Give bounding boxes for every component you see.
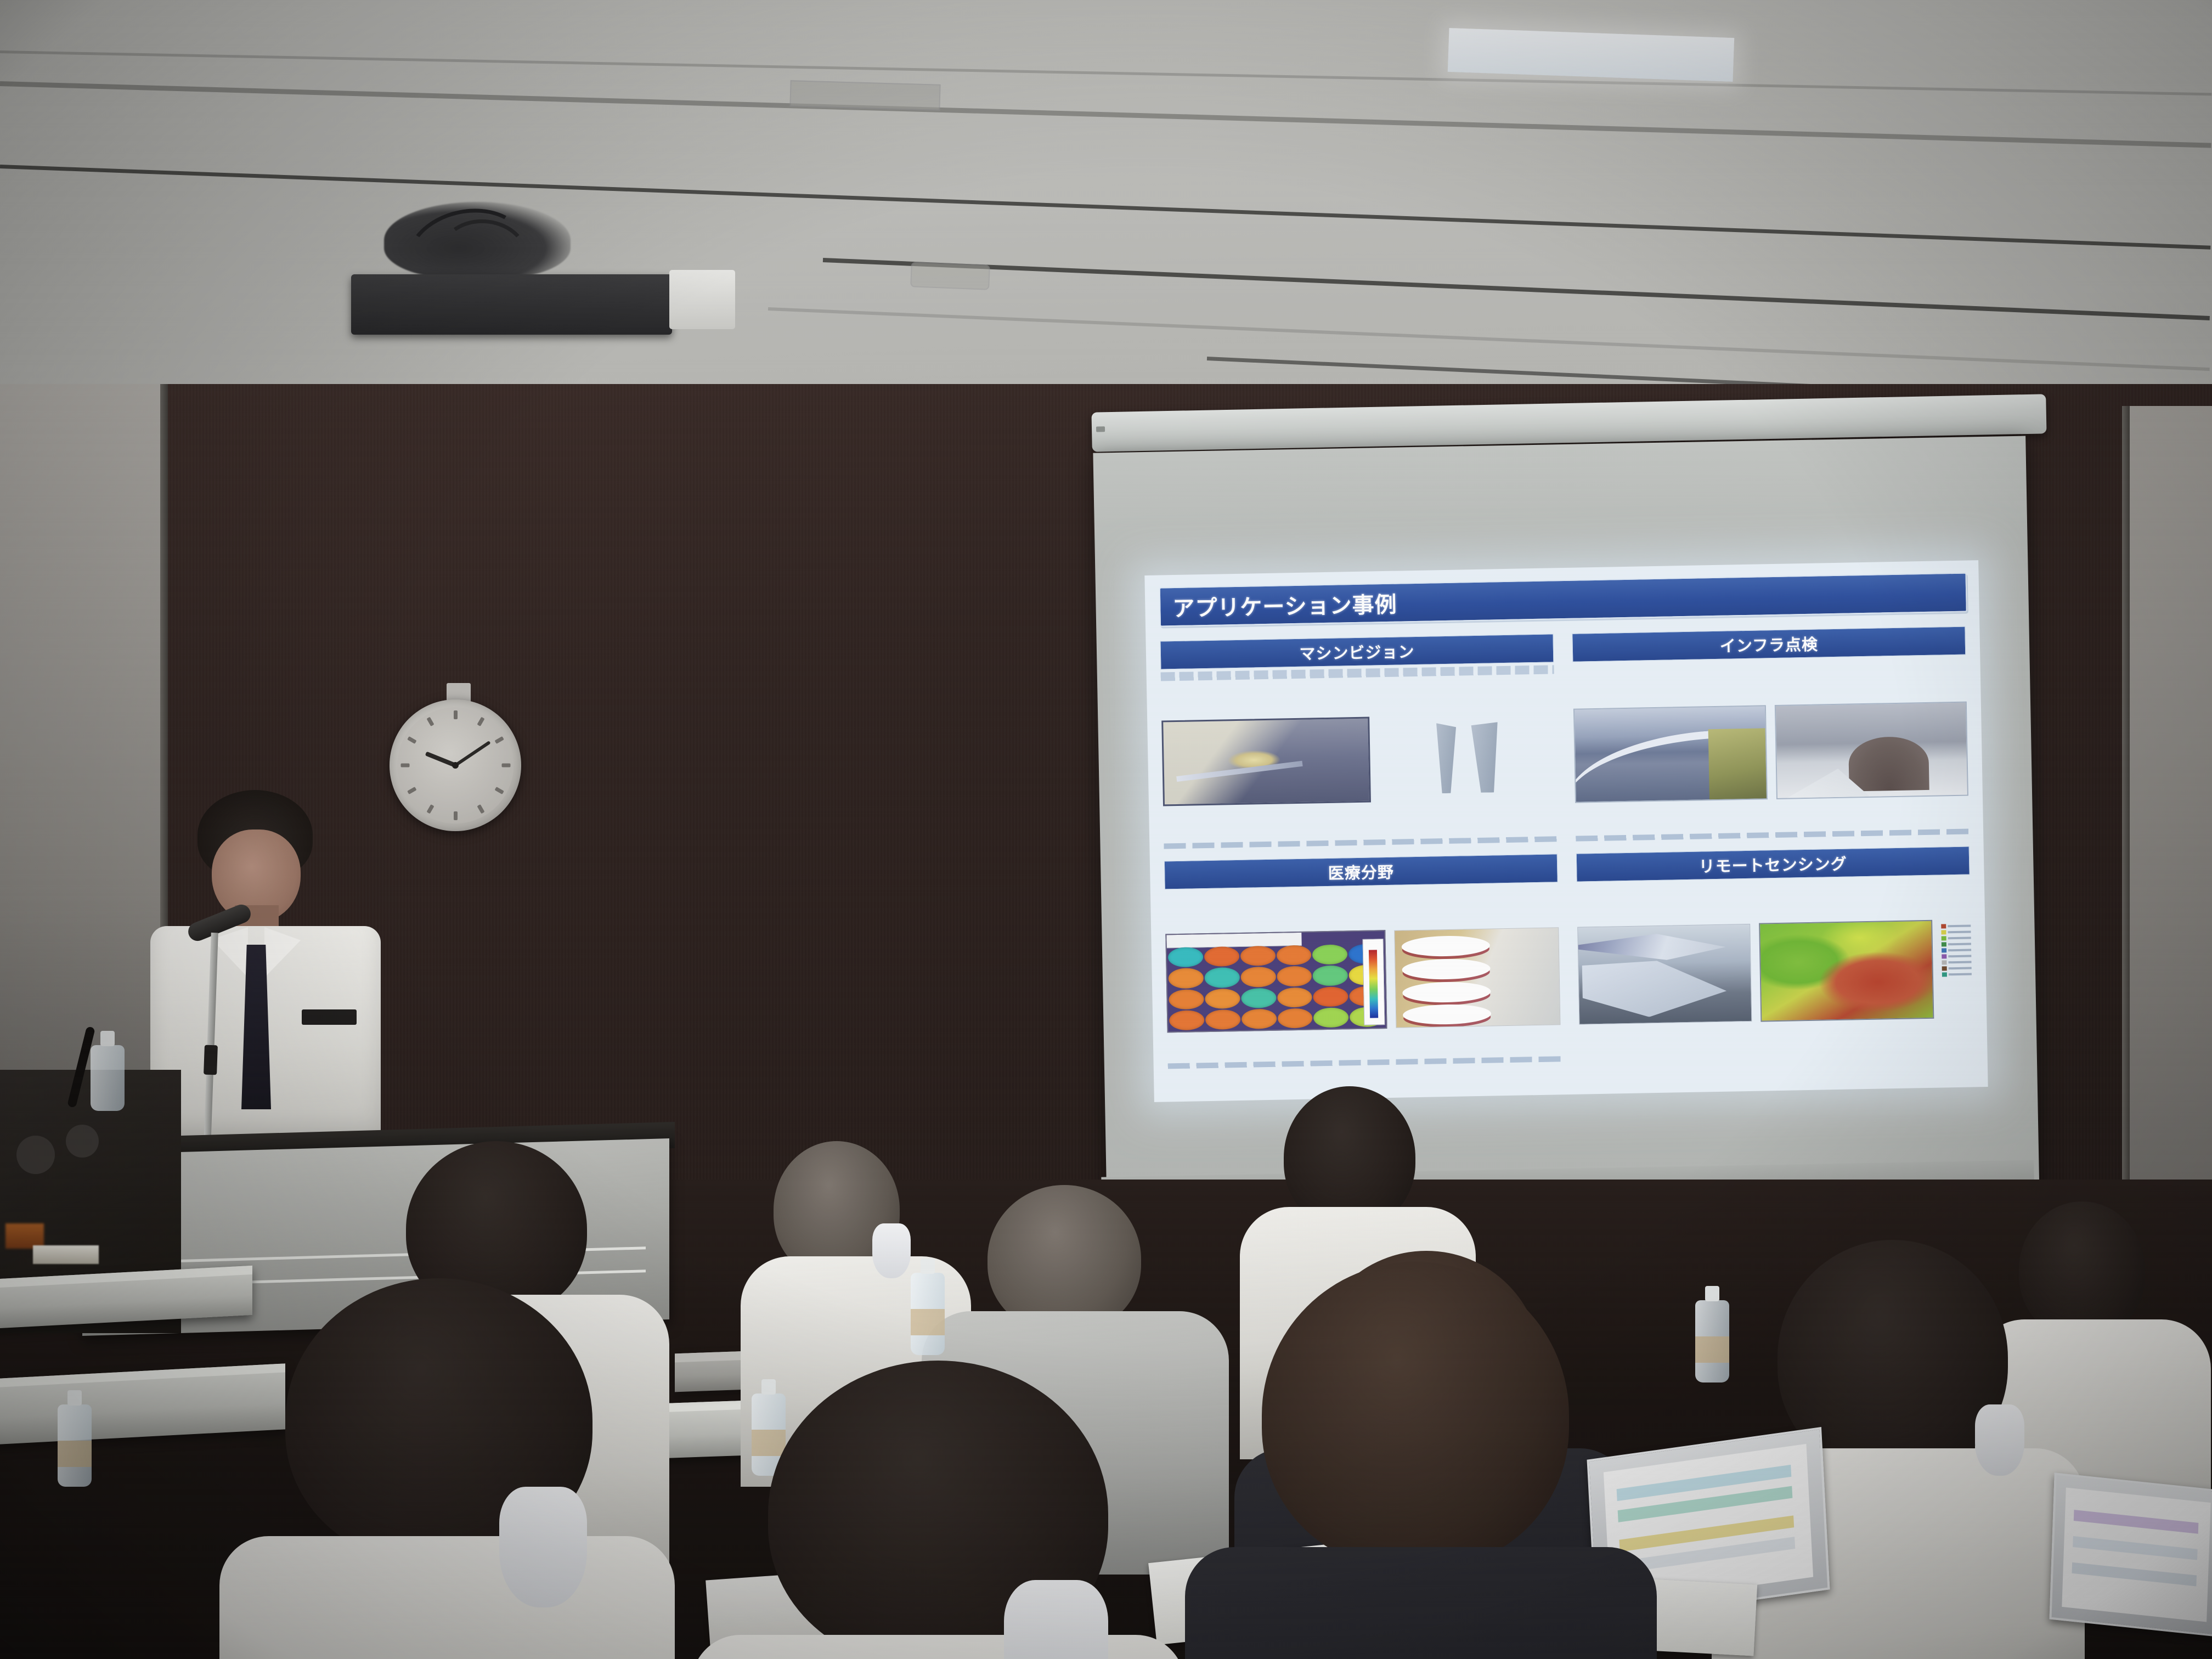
slide-title: アプリケーション事例: [1160, 587, 1397, 623]
face-mask: [872, 1223, 911, 1278]
heatmap-well: [1240, 967, 1276, 987]
heatmap-well: [1168, 968, 1204, 988]
projected-slide: アプリケーション事例 マシンビジョン インフラ点検: [1144, 560, 1988, 1102]
face-mask: [1975, 1404, 2024, 1476]
heatmap-well: [1169, 989, 1204, 1009]
heatmap-well: [1313, 966, 1348, 986]
clock-center-pin: [452, 762, 459, 769]
slide-title-banner: アプリケーション事例: [1159, 573, 1967, 627]
heatmap-well: [1204, 946, 1240, 967]
panel-header-remote-sensing: リモートセンシング: [1576, 847, 1970, 882]
panel-header-machine-vision: マシンビジョン: [1160, 634, 1554, 669]
attendee-torso: [1185, 1547, 1657, 1659]
heatmap-well: [1240, 946, 1276, 966]
water-bottle[interactable]: [58, 1404, 92, 1487]
map-legend: [1941, 921, 1972, 1018]
panel-header-medical: 医療分野: [1164, 854, 1558, 889]
microphone-clip: [204, 1045, 218, 1075]
heatmap-well: [1205, 1009, 1241, 1030]
av-knob[interactable]: [16, 1136, 55, 1174]
culture-dish-photo: [1394, 927, 1560, 1028]
machine-vision-blade-models: [1378, 715, 1553, 800]
ceiling-vent: [789, 80, 940, 111]
panel-body-remote-sensing: [1577, 887, 1973, 1054]
microplate-heatmap: [1165, 930, 1387, 1032]
heatmap-well: [1277, 987, 1313, 1007]
heatmap-well: [1276, 945, 1312, 966]
screen-roller-endcap: [1096, 426, 1105, 432]
panel-machine-vision: マシンビジョン: [1160, 634, 1558, 849]
av-knob[interactable]: [66, 1125, 99, 1158]
aircraft-sensor-photo: [1577, 924, 1752, 1025]
conference-room-photo: アプリケーション事例 マシンビジョン インフラ点検: [0, 0, 2212, 1659]
heatmap-well: [1242, 1009, 1277, 1029]
clock-hour-hand: [425, 752, 456, 768]
ceiling-projector: [351, 274, 672, 335]
panel-remote-sensing: リモートセンシング: [1576, 847, 1973, 1062]
heatmap-well: [1168, 947, 1204, 967]
heatmap-well-grid: [1167, 943, 1386, 1031]
panel-body-medical: [1165, 894, 1561, 1061]
attendee-head: [2019, 1201, 2145, 1339]
land-classification-map: [1759, 920, 1934, 1022]
heatmap-well: [1313, 1007, 1349, 1028]
heatmap-well: [1169, 1010, 1205, 1030]
heatmap-well: [1313, 986, 1349, 1007]
heatmap-well: [1204, 967, 1240, 988]
av-panel-glow: [33, 1245, 99, 1264]
water-bottle[interactable]: [911, 1273, 945, 1355]
attendee-laptop-right[interactable]: [2049, 1472, 2212, 1637]
turbine-blade-shape-1: [1431, 723, 1457, 794]
heatmap-colorbar: [1363, 939, 1385, 1025]
attendee-torso: [691, 1635, 1185, 1659]
panel-infrastructure-inspection: インフラ点検: [1572, 627, 1969, 842]
heatmap-well: [1241, 988, 1277, 1008]
attendee-torso: [219, 1536, 675, 1659]
bridge-photo: [1573, 705, 1768, 803]
attendee-head: [1262, 1262, 1569, 1569]
panel-medical-field: 医療分野: [1164, 854, 1561, 1069]
heatmap-well: [1277, 966, 1312, 986]
face-mask: [499, 1487, 587, 1607]
heatmap-well: [1205, 989, 1240, 1009]
heatmap-well: [1312, 944, 1348, 964]
presenter-pocket-pen: [302, 1009, 357, 1025]
water-bottle[interactable]: [1695, 1300, 1729, 1383]
panel-header-infrastructure: インフラ点検: [1572, 627, 1966, 662]
culture-dish: [1402, 958, 1490, 980]
culture-dish: [1402, 935, 1490, 957]
ceiling: [0, 0, 2212, 417]
water-bottle[interactable]: [91, 1045, 125, 1111]
panel-body-machine-vision: [1161, 674, 1557, 841]
panel-body-infrastructure: [1573, 667, 1969, 834]
tunnel-photo: [1774, 702, 1968, 799]
ceiling-light-panel: [1448, 28, 1734, 82]
turbine-blade-shape-2: [1468, 722, 1500, 793]
culture-dish: [1403, 1003, 1491, 1025]
laptop-document: [2062, 1487, 2210, 1622]
face-mask: [1004, 1580, 1108, 1659]
slide-panel-grid: マシンビジョン インフラ点検: [1160, 627, 1973, 1069]
culture-dish: [1402, 981, 1491, 1003]
ceiling-speaker: [910, 262, 990, 290]
clock-minute-hand: [454, 741, 490, 766]
machine-vision-inspection-photo: [1161, 717, 1371, 806]
heatmap-well: [1277, 1008, 1313, 1028]
projector-lens-housing: [669, 270, 735, 329]
